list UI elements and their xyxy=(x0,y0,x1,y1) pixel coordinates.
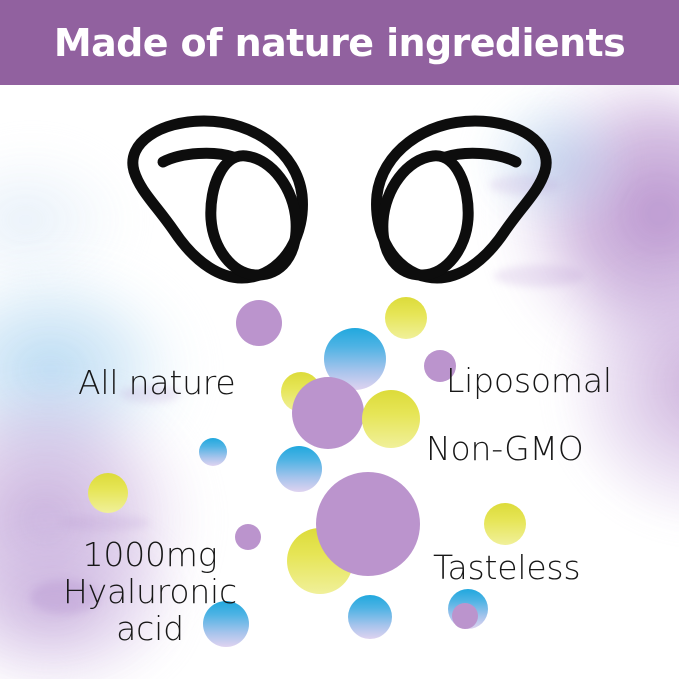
dosage-line-suffix: acid xyxy=(20,611,280,648)
feature-label-non-gmo: Non-GMO xyxy=(426,431,584,468)
page-title: Made of nature ingredients xyxy=(54,24,625,62)
bubble-blue xyxy=(276,446,322,492)
bubble-yellow xyxy=(484,503,526,545)
bubble-blue xyxy=(199,438,227,466)
bubble-purple xyxy=(292,377,364,449)
bubble-purple xyxy=(236,300,282,346)
dosage-line-ingredient: Hyaluronic xyxy=(20,574,280,611)
feature-label-liposomal: Liposomal xyxy=(446,363,612,400)
infographic-canvas: Made of nature ingredients All nature Li… xyxy=(0,0,679,679)
bubble-purple-large xyxy=(316,472,420,576)
bubble-yellow xyxy=(385,297,427,339)
dosage-label: 1000mg Hyaluronic acid xyxy=(20,537,280,648)
bubble-purple xyxy=(452,603,478,629)
dosage-line-amount: 1000mg xyxy=(20,537,280,574)
feature-label-tasteless: Tasteless xyxy=(433,550,580,587)
bubble-blue xyxy=(348,595,392,639)
feature-label-all-nature: All nature xyxy=(78,365,236,402)
header-band: Made of nature ingredients xyxy=(0,0,679,85)
bubble-yellow xyxy=(88,473,128,513)
bubble-yellow xyxy=(362,390,420,448)
